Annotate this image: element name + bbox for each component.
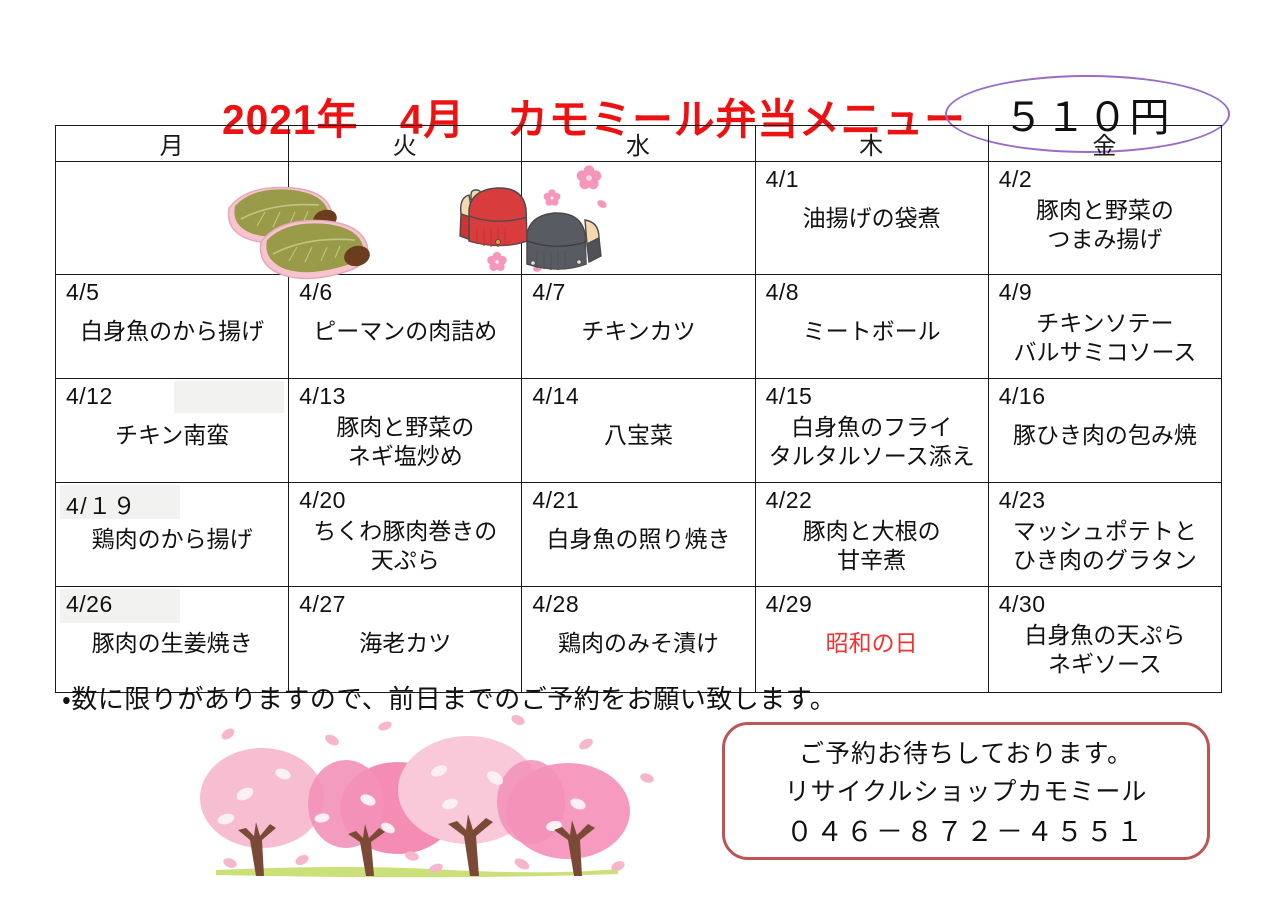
calendar-cell-empty-wed [522,162,755,275]
cherry-blossom-trees-icon [150,718,670,890]
cell-date: 4/28 [532,591,579,618]
cell-date: 4/26 [66,591,113,618]
cell-menu: 豚肉の生姜焼き [56,629,288,658]
cell-date: 4/5 [66,279,99,306]
weekday-header-wed: 水 [522,126,755,162]
menu-calendar: 月 火 水 木 金 [55,125,1222,693]
calendar-cell-4-27: 4/27 海老カツ [289,587,522,693]
cell-date: 4/22 [766,487,813,514]
cell-date: 4/１９ [66,487,137,521]
calendar-cell-4-9: 4/9 チキンソテーバルサミコソース [988,275,1221,379]
cell-menu-holiday: 昭和の日 [756,629,988,658]
calendar-cell-4-12: 4/12 チキン南蛮 [56,379,289,483]
calendar-cell-4-6: 4/6 ピーマンの肉詰め [289,275,522,379]
cell-menu: 油揚げの袋煮 [756,204,988,233]
calendar-cell-4-5: 4/5 白身魚のから揚げ [56,275,289,379]
cell-date: 4/23 [999,487,1046,514]
contact-line-1: ご予約お待ちしております。 [799,734,1133,770]
cell-menu: マッシュポテトとひき肉のグラタン [989,517,1221,576]
calendar-cell-4-8: 4/8 ミートボール [755,275,988,379]
cell-menu: ピーマンの肉詰め [289,317,521,346]
header: 2021年 4月 カモミール弁当メニュー ５１０円 [0,38,1280,110]
cell-date: 4/14 [532,383,579,410]
calendar-cell-4-15: 4/15 白身魚のフライタルタルソース添え [755,379,988,483]
calendar-week-row: 4/5 白身魚のから揚げ 4/6 ピーマンの肉詰め 4/7 チキンカツ 4/8 … [56,275,1222,379]
cell-menu: チキンソテーバルサミコソース [989,309,1221,368]
reservation-note: ・数に限りがありますので、前日までのご予約をお願い致します。 [62,679,836,716]
cell-date: 4/8 [766,279,799,306]
cell-menu: 白身魚のから揚げ [56,317,288,346]
cell-date: 4/27 [299,591,346,618]
cell-menu: 白身魚のフライタルタルソース添え [756,413,988,472]
cell-date: 4/30 [999,591,1046,618]
calendar-cell-4-7: 4/7 チキンカツ [522,275,755,379]
blank-textbox-artifact [174,381,284,413]
cell-date: 4/7 [532,279,565,306]
calendar-cell-4-16: 4/16 豚ひき肉の包み焼 [988,379,1221,483]
cell-menu: 白身魚の天ぷらネギソース [989,621,1221,680]
calendar-cell-4-28: 4/28 鶏肉のみそ漬け [522,587,755,693]
cell-date: 4/2 [999,166,1032,193]
cell-date: 4/29 [766,591,813,618]
cell-date: 4/13 [299,383,346,410]
contact-box: ご予約お待ちしております。 リサイクルショップカモミール ０４６－８７２－４５５… [722,722,1210,860]
cell-date: 4/20 [299,487,346,514]
cell-menu: 白身魚の照り焼き [522,525,754,554]
calendar-cell-4-1: 4/1 油揚げの袋煮 [755,162,988,275]
calendar-cell-4-19: 4/１９ 鶏肉のから揚げ [56,483,289,587]
contact-phone[interactable]: ０４６－８７２－４５５１ [786,810,1146,849]
calendar-cell-4-29: 4/29 昭和の日 [755,587,988,693]
calendar-week-row: 4/26 豚肉の生姜焼き 4/27 海老カツ 4/28 鶏肉のみそ漬け 4/29… [56,587,1222,693]
calendar-cell-4-2: 4/2 豚肉と野菜のつまみ揚げ [988,162,1221,275]
cell-date: 4/9 [999,279,1032,306]
menu-flyer: 2021年 4月 カモミール弁当メニュー ５１０円 月 火 水 木 金 [0,0,1280,905]
cell-date: 4/16 [999,383,1046,410]
cell-date: 4/12 [66,383,113,410]
calendar-cell-empty-mon [56,162,289,275]
contact-shop-name: リサイクルショップカモミール [785,772,1148,808]
cell-date: 4/15 [766,383,813,410]
weekday-header-thu: 木 [755,126,988,162]
calendar-cell-4-14: 4/14 八宝菜 [522,379,755,483]
calendar-cell-4-26: 4/26 豚肉の生姜焼き [56,587,289,693]
calendar-week-row: 4/1 油揚げの袋煮 4/2 豚肉と野菜のつまみ揚げ [56,162,1222,275]
cell-menu: 海老カツ [289,629,521,658]
cell-menu: 豚肉と野菜のネギ塩炒め [289,413,521,472]
weekday-header-fri: 金 [988,126,1221,162]
calendar-week-row: 4/12 チキン南蛮 4/13 豚肉と野菜のネギ塩炒め 4/14 八宝菜 4/1… [56,379,1222,483]
calendar-week-row: 4/１９ 鶏肉のから揚げ 4/20 ちくわ豚肉巻きの天ぷら 4/21 白身魚の照… [56,483,1222,587]
cell-menu: 豚肉と野菜のつまみ揚げ [989,196,1221,255]
calendar-cell-4-23: 4/23 マッシュポテトとひき肉のグラタン [988,483,1221,587]
cell-date: 4/6 [299,279,332,306]
calendar-cell-empty-tue [289,162,522,275]
weekday-header-tue: 火 [289,126,522,162]
weekday-header-row: 月 火 水 木 金 [56,126,1222,162]
cell-menu: 豚肉と大根の甘辛煮 [756,517,988,576]
cell-menu: チキンカツ [522,317,754,346]
calendar-cell-4-30: 4/30 白身魚の天ぷらネギソース [988,587,1221,693]
calendar-cell-4-20: 4/20 ちくわ豚肉巻きの天ぷら [289,483,522,587]
cell-menu: ちくわ豚肉巻きの天ぷら [289,517,521,576]
calendar-cell-4-22: 4/22 豚肉と大根の甘辛煮 [755,483,988,587]
cell-menu: チキン南蛮 [56,421,288,450]
cell-menu: ミートボール [756,317,988,346]
cell-menu: 鶏肉のから揚げ [56,525,288,554]
weekday-header-mon: 月 [56,126,289,162]
calendar-cell-4-13: 4/13 豚肉と野菜のネギ塩炒め [289,379,522,483]
cell-menu: 豚ひき肉の包み焼 [989,421,1221,450]
cell-date: 4/1 [766,166,799,193]
cell-menu: 八宝菜 [522,421,754,450]
cell-menu: 鶏肉のみそ漬け [522,629,754,658]
cell-date: 4/21 [532,487,579,514]
calendar-cell-4-21: 4/21 白身魚の照り焼き [522,483,755,587]
